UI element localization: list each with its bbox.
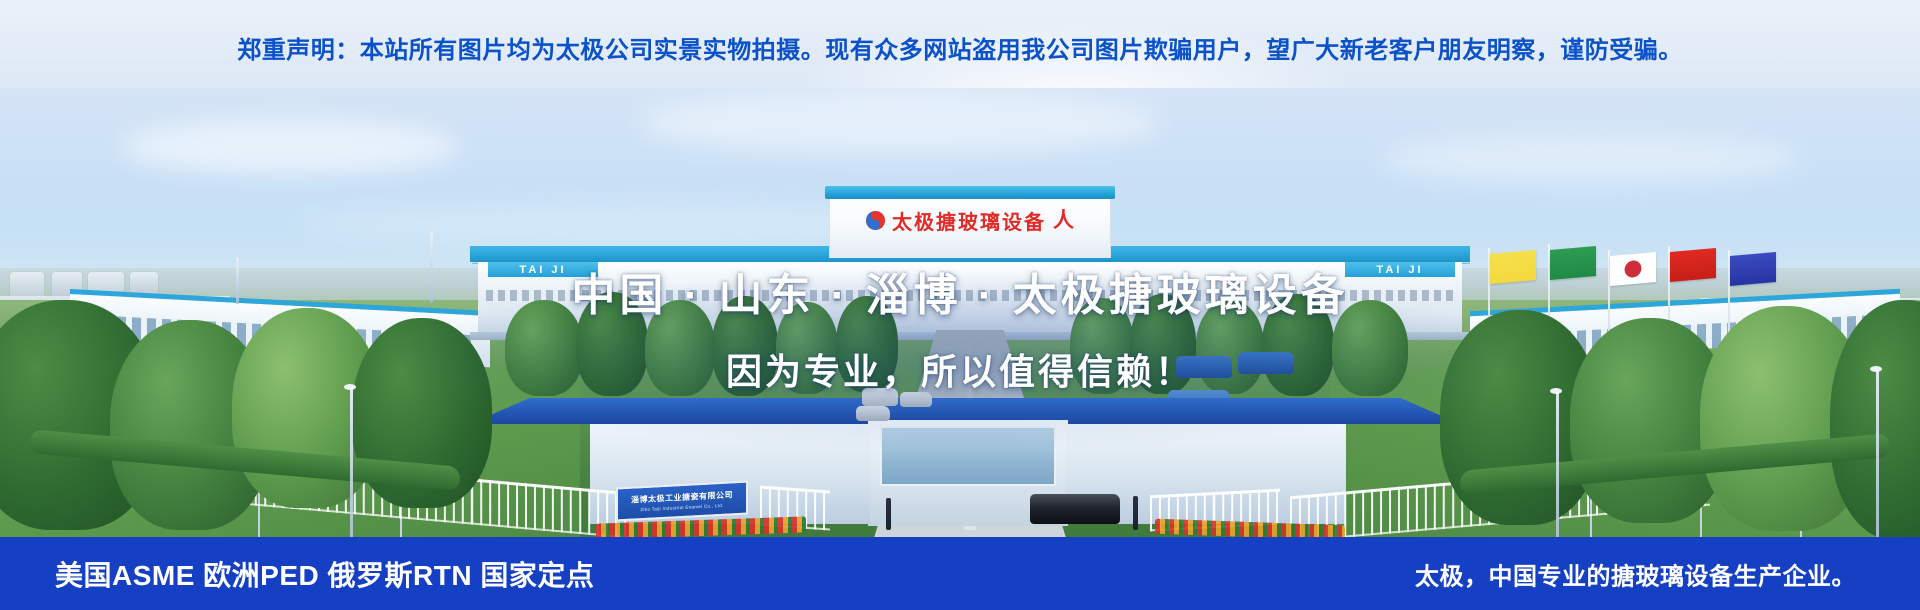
tree	[1196, 300, 1264, 394]
wing-band-right: TAI JI	[1345, 262, 1455, 277]
tree	[1332, 300, 1408, 396]
building-sign: 太极搪玻璃设备 人	[825, 206, 1115, 234]
tree	[505, 300, 583, 396]
announcement-text: 郑重声明：本站所有图片均为太极公司实景实物拍摄。现有众多网站盗用我公司图片欺骗用…	[0, 30, 1920, 65]
blue-truck	[1238, 352, 1294, 374]
wing-band-left-label: TAI JI	[519, 264, 566, 276]
building-sign-glyph: 人	[1053, 210, 1074, 231]
person-guard	[1133, 496, 1138, 530]
tower-roof	[825, 186, 1115, 199]
parked-car	[856, 406, 890, 421]
wing-band-right-label: TAI JI	[1376, 264, 1423, 276]
street-lamp-head	[1870, 366, 1882, 372]
street-lamp-head	[344, 384, 356, 390]
company-banner: TAI JI TAI JI 太极搪玻璃设备 人	[0, 0, 1920, 610]
tree	[776, 302, 838, 394]
gatehouse-window	[880, 426, 1056, 486]
cloud-shape	[640, 92, 1160, 154]
parked-car	[900, 392, 932, 407]
flag-green	[1550, 246, 1596, 280]
car-black	[1030, 494, 1120, 524]
antenna-mast	[236, 258, 239, 304]
street-lamp-pole	[1556, 392, 1559, 557]
tree	[1130, 294, 1196, 394]
tree	[576, 292, 648, 396]
street-lamp-pole	[350, 388, 353, 558]
tree	[712, 296, 778, 396]
flag-south-korea-2	[1610, 252, 1656, 286]
company-plaque: 淄博太极工业搪瓷有限公司 Zibo Taiji Industrial Ename…	[616, 481, 748, 522]
person-guard	[886, 498, 891, 530]
bottom-bar: 美国ASME 欧洲PED 俄罗斯RTN 国家定点 太极，中国专业的搪玻璃设备生产…	[0, 537, 1920, 610]
certifications-text: 美国ASME 欧洲PED 俄罗斯RTN 国家定点	[55, 554, 594, 594]
cloud-shape	[1380, 135, 1800, 183]
tree	[1070, 298, 1134, 394]
flag-vietnam	[1670, 248, 1716, 282]
tree	[836, 296, 898, 392]
parked-van	[862, 388, 898, 406]
building-sign-text: 太极搪玻璃设备	[892, 206, 1046, 235]
tree	[645, 300, 715, 396]
factory-tower: 太极搪玻璃设备 人	[825, 186, 1115, 258]
company-slogan-text: 太极，中国专业的搪玻璃设备生产企业。	[1415, 556, 1856, 591]
antenna-mast	[430, 232, 433, 302]
blue-truck	[1176, 356, 1232, 378]
flag-south-korea	[1490, 250, 1536, 284]
announcement-bar: 郑重声明：本站所有图片均为太极公司实景实物拍摄。现有众多网站盗用我公司图片欺骗用…	[0, 0, 1920, 88]
wing-band-left: TAI JI	[488, 262, 598, 277]
taiji-yinyang-icon	[866, 211, 885, 230]
street-lamp-head	[1550, 388, 1562, 394]
street-lamp-pole	[1876, 370, 1879, 560]
cloud-shape	[120, 120, 460, 174]
flag-blue	[1730, 252, 1776, 286]
tree	[1262, 294, 1334, 396]
